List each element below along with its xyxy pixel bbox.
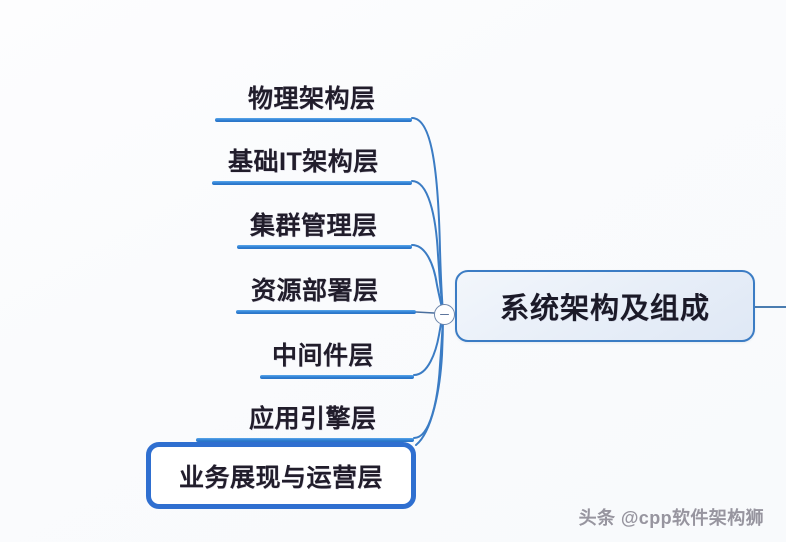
child-node-cluster-management[interactable]: 集群管理层 <box>196 199 426 249</box>
child-label: 中间件层 <box>272 336 374 372</box>
child-label: 业务展现与运营层 <box>179 458 383 494</box>
child-label: 物理架构层 <box>248 79 376 115</box>
child-node-business-operations-highlighted[interactable]: 业务展现与运营层 <box>146 442 416 509</box>
child-node-resource-deployment[interactable]: 资源部署层 <box>196 264 430 314</box>
child-node-application-engine[interactable]: 应用引擎层 <box>196 392 428 442</box>
collapse-toggle-minus-icon[interactable] <box>434 304 455 325</box>
child-label: 资源部署层 <box>251 271 379 307</box>
child-underline <box>215 118 412 122</box>
child-node-basic-it-architecture[interactable]: 基础IT架构层 <box>196 135 426 185</box>
watermark-text: 头条 @cpp软件架构狮 <box>579 504 764 530</box>
root-node[interactable]: 系统架构及组成 <box>455 270 755 342</box>
child-label: 集群管理层 <box>250 206 378 242</box>
mindmap-canvas: 物理架构层 基础IT架构层 集群管理层 资源部署层 中间件层 应用引擎层 业务展… <box>0 0 786 542</box>
child-node-middleware[interactable]: 中间件层 <box>196 329 428 379</box>
child-underline <box>237 245 412 249</box>
child-underline <box>236 310 416 314</box>
child-underline <box>260 375 414 379</box>
child-label: 基础IT架构层 <box>228 142 379 178</box>
minus-glyph <box>440 314 449 316</box>
child-label: 应用引擎层 <box>249 399 377 435</box>
child-node-physical-architecture[interactable]: 物理架构层 <box>196 72 426 122</box>
root-node-label: 系统架构及组成 <box>500 285 710 327</box>
child-underline <box>212 181 412 185</box>
